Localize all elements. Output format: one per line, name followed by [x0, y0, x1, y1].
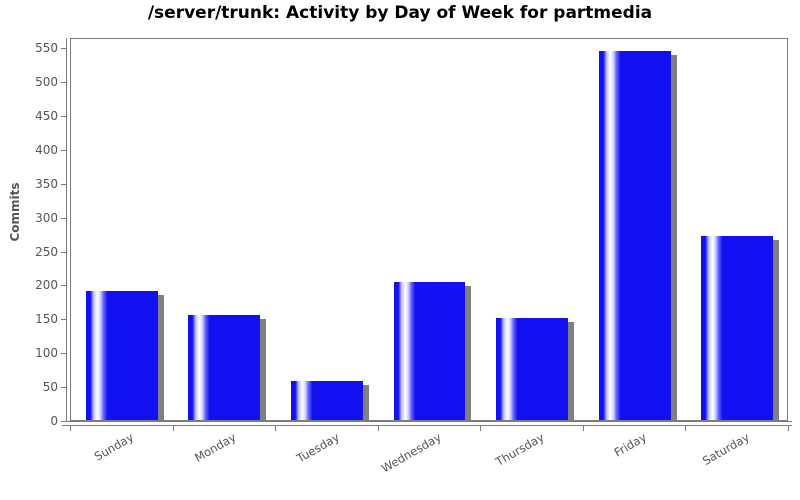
y-tick-label: 450	[0, 109, 58, 123]
y-tick-label: 100	[0, 346, 58, 360]
y-tick-mark	[61, 184, 66, 185]
x-tick-mark	[275, 426, 276, 431]
y-tick-mark	[61, 353, 66, 354]
y-tick-label: 0	[0, 414, 58, 428]
x-tick-mark	[685, 426, 686, 431]
bar-shadow	[568, 322, 574, 420]
bar-shadow	[671, 55, 677, 420]
bar-shadow	[363, 385, 369, 420]
y-tick-label: 350	[0, 177, 58, 191]
bar-shadow	[260, 319, 266, 420]
x-tick-label: Tuesday	[294, 430, 342, 466]
y-tick-label: 400	[0, 143, 58, 157]
bar-chart: /server/trunk: Activity by Day of Week f…	[0, 0, 800, 500]
x-tick-label: Monday	[193, 430, 239, 465]
bar[interactable]	[496, 318, 568, 420]
plot-area	[70, 38, 788, 421]
x-tick-label: Sunday	[92, 430, 136, 464]
y-tick-label: 300	[0, 211, 58, 225]
y-tick-mark	[61, 387, 66, 388]
bar[interactable]	[701, 236, 773, 420]
x-tick-mark	[378, 426, 379, 431]
x-tick-label: Friday	[612, 430, 649, 460]
y-tick-mark	[61, 48, 66, 49]
y-tick-mark	[61, 285, 66, 286]
x-tick-label: Wednesday	[379, 430, 444, 475]
y-tick-label: 50	[0, 380, 58, 394]
bar[interactable]	[188, 315, 260, 420]
y-tick-label: 550	[0, 41, 58, 55]
y-tick-mark	[61, 150, 66, 151]
bar-shadow	[158, 295, 164, 420]
y-axis-line	[66, 38, 67, 422]
bar[interactable]	[86, 291, 158, 420]
y-tick-mark	[61, 421, 66, 422]
x-tick-mark	[480, 426, 481, 431]
y-tick-label: 500	[0, 75, 58, 89]
bar[interactable]	[599, 51, 671, 420]
x-tick-mark	[788, 426, 789, 431]
y-tick-label: 200	[0, 278, 58, 292]
x-tick-label: Thursday	[493, 430, 546, 469]
bar-shadow	[773, 240, 779, 420]
bar-shadow	[465, 286, 471, 420]
y-tick-mark	[61, 319, 66, 320]
y-tick-mark	[61, 252, 66, 253]
x-tick-label: Saturday	[700, 430, 752, 468]
chart-title: /server/trunk: Activity by Day of Week f…	[0, 3, 800, 23]
y-tick-mark	[61, 218, 66, 219]
bar[interactable]	[394, 282, 466, 420]
x-tick-mark	[583, 426, 584, 431]
x-tick-mark	[173, 426, 174, 431]
x-axis-line	[62, 421, 792, 422]
y-tick-mark	[61, 82, 66, 83]
y-tick-label: 250	[0, 245, 58, 259]
x-tick-mark	[70, 426, 71, 431]
x-axis-line-outer	[62, 425, 792, 426]
y-tick-label: 150	[0, 312, 58, 326]
y-tick-mark	[61, 116, 66, 117]
bar[interactable]	[291, 381, 363, 420]
